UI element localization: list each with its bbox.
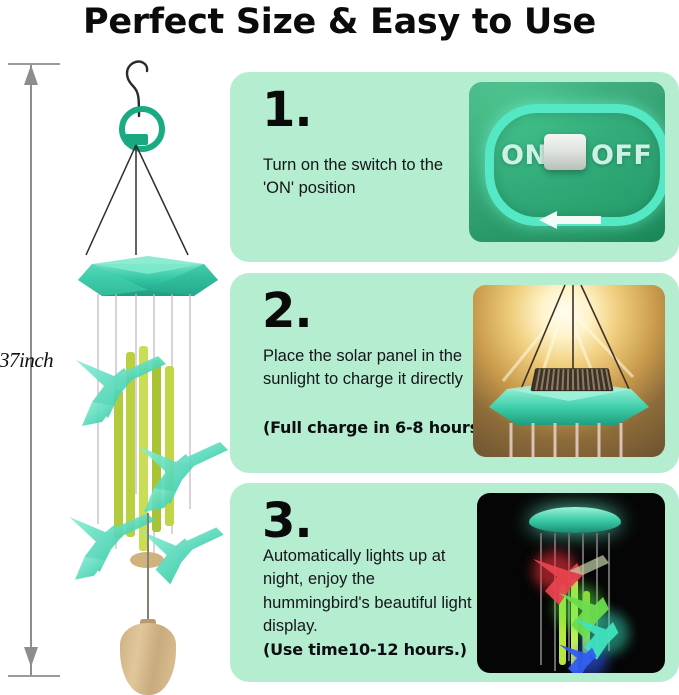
arrow-up-icon xyxy=(24,65,38,85)
night-glow-photo xyxy=(477,493,665,673)
measurement-bottom-tick xyxy=(8,675,60,677)
wooden-wind-catcher xyxy=(120,623,176,695)
page-title: Perfect Size & Easy to Use xyxy=(0,2,679,42)
infographic-page: Perfect Size & Easy to Use 37inch xyxy=(0,0,679,682)
arrow-left-icon xyxy=(539,210,601,230)
switch-on-label: ON xyxy=(501,140,548,171)
drop-line xyxy=(147,513,149,628)
step-body-1: Turn on the switch to the 'ON' position xyxy=(263,154,478,201)
suspension-strings xyxy=(62,143,232,263)
night-hummingbirds xyxy=(477,493,665,673)
chime-tubes-photo xyxy=(501,423,637,457)
step-panel-3: 3. Automatically lights up at night, enj… xyxy=(230,483,679,682)
step-note-2: (Full charge in 6-8 hours) xyxy=(263,418,503,437)
step-note-3: (Use time10-12 hours.) xyxy=(263,640,493,659)
arrow-down-icon xyxy=(24,647,38,667)
switch-slider xyxy=(544,134,586,170)
step-number-1: 1. xyxy=(262,86,312,134)
step-number-2: 2. xyxy=(262,287,312,335)
step-panel-1: 1. Turn on the switch to the 'ON' positi… xyxy=(230,72,679,262)
switch-photo: ON OFF xyxy=(469,82,665,242)
step-body-3: Automatically lights up at night, enjoy … xyxy=(263,545,473,639)
sunlight-photo xyxy=(473,285,665,457)
step-number-3: 3. xyxy=(262,497,312,545)
product-illustration xyxy=(62,58,232,678)
step-panel-2: 2. Place the solar panel in the sunlight… xyxy=(230,273,679,473)
step-body-2: Place the solar panel in the sunlight to… xyxy=(263,345,468,392)
solar-panel-cells xyxy=(530,368,613,391)
switch-off-label: OFF xyxy=(591,140,652,171)
